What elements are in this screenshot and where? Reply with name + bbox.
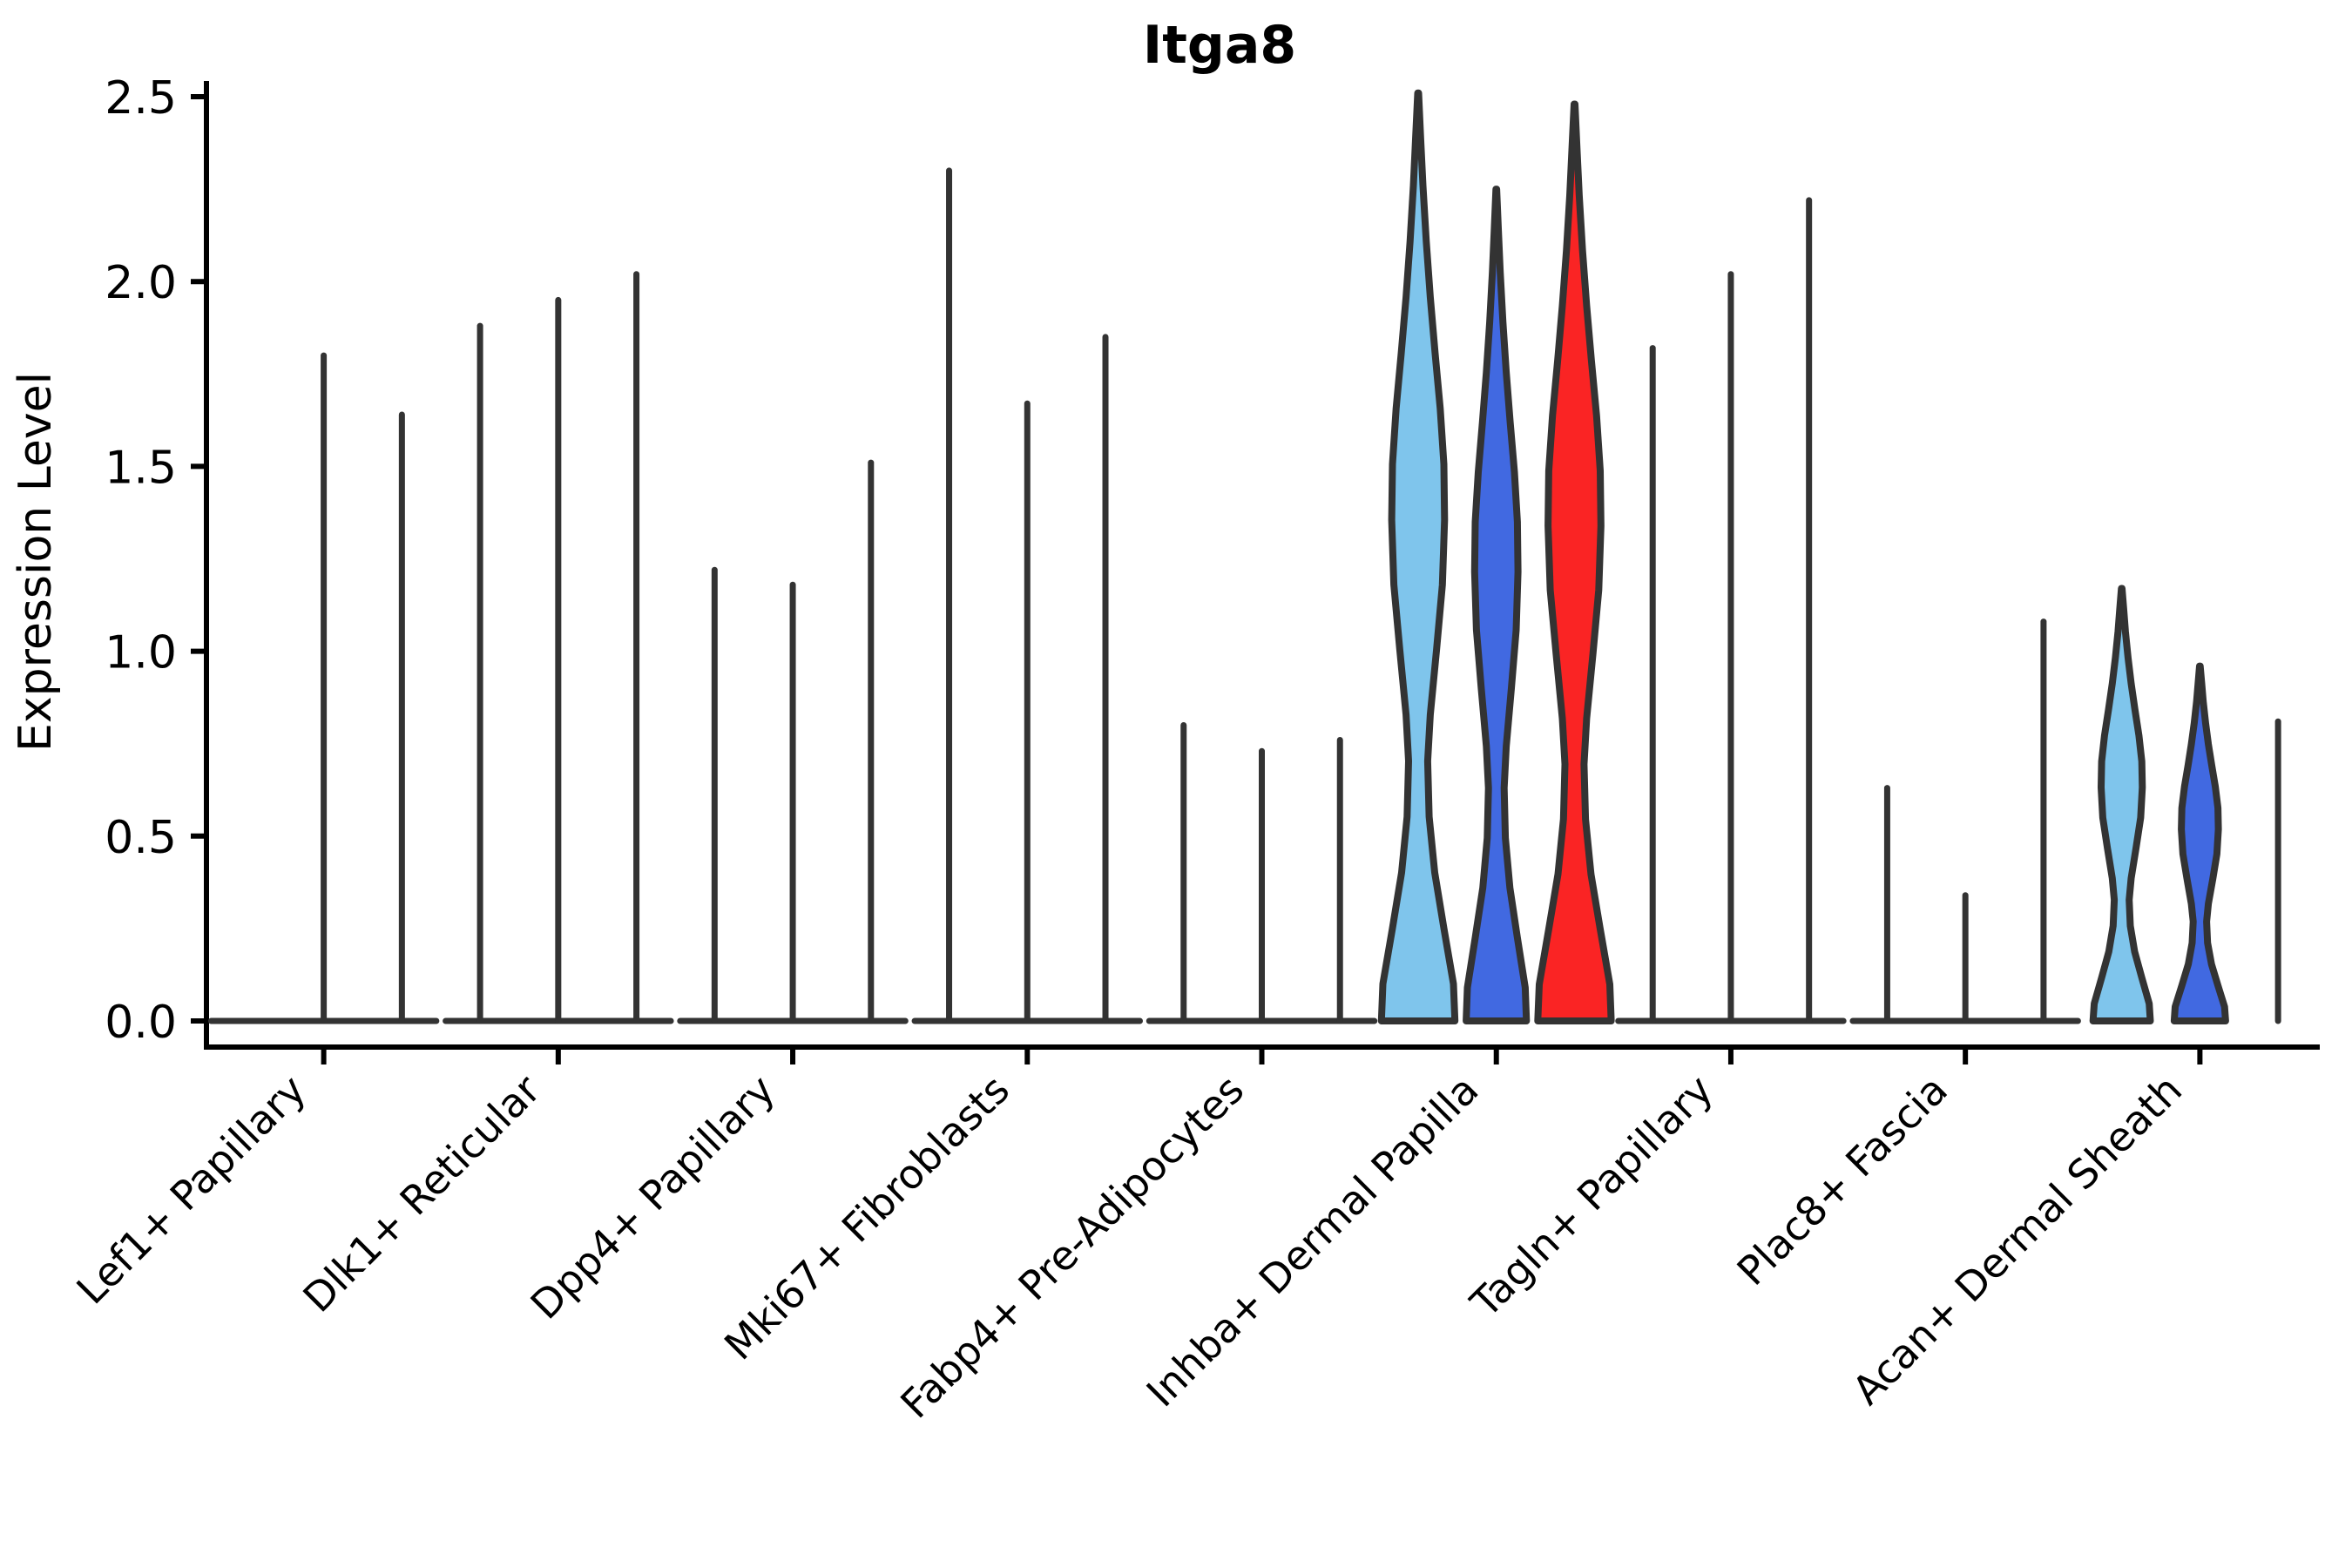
x-axis-labels: Lef1+ PapillaryDlk1+ ReticularDpp4+ Papi… bbox=[67, 1066, 2191, 1428]
violin-body[interactable] bbox=[2174, 666, 2226, 1021]
x-tick-label: Lef1+ Papillary bbox=[67, 1066, 314, 1314]
y-tick-label: 1.0 bbox=[105, 627, 177, 679]
violin-group bbox=[1149, 725, 1374, 1021]
y-axis-ticks: 0.00.51.01.52.02.5 bbox=[105, 72, 206, 1049]
y-tick-label: 2.0 bbox=[105, 257, 177, 309]
violin-body[interactable] bbox=[2093, 589, 2151, 1022]
y-tick-label: 2.5 bbox=[105, 72, 177, 125]
violin-group bbox=[1619, 200, 1843, 1021]
y-tick-label: 0.0 bbox=[105, 997, 177, 1049]
violin-group bbox=[1382, 93, 1612, 1021]
violin-body[interactable] bbox=[1466, 189, 1526, 1021]
violin-group bbox=[1853, 622, 2078, 1021]
violin-series-group bbox=[211, 93, 2278, 1021]
y-tick-label: 1.5 bbox=[105, 442, 177, 494]
x-tick-label: Dpp4+ Papillary bbox=[522, 1066, 784, 1328]
violin-plot-svg: Itga8 Expression Level 0.00.51.01.52.02.… bbox=[0, 0, 2352, 1568]
violin-group bbox=[2093, 589, 2278, 1022]
violin-body[interactable] bbox=[1382, 93, 1455, 1021]
violin-group bbox=[211, 355, 436, 1021]
x-tick-label: Dlk1+ Reticular bbox=[294, 1066, 549, 1321]
x-tick-label: Plac8+ Fascia bbox=[1728, 1066, 1957, 1294]
page-title: Itga8 bbox=[1143, 15, 1296, 76]
violin-group bbox=[446, 274, 671, 1021]
y-axis-label: Expression Level bbox=[10, 372, 62, 752]
violin-group bbox=[915, 171, 1139, 1021]
x-tick-label: Tagln+ Papillary bbox=[1461, 1066, 1722, 1328]
violin-plot-figure: Itga8 Expression Level 0.00.51.01.52.02.… bbox=[0, 0, 2352, 1568]
y-tick-label: 0.5 bbox=[105, 812, 177, 864]
violin-body[interactable] bbox=[1538, 105, 1611, 1022]
violin-group bbox=[680, 463, 905, 1021]
